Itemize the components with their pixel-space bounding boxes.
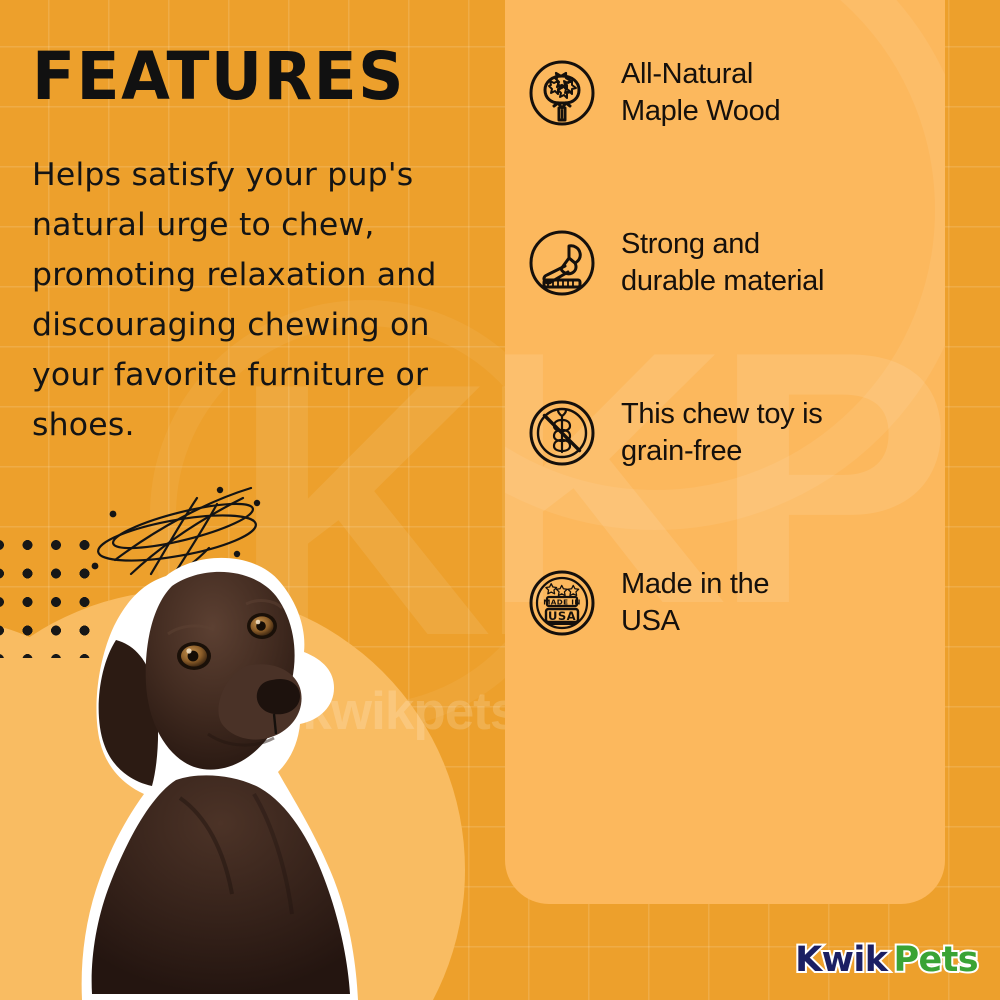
page-title: FEATURES <box>32 38 405 115</box>
features-description: Helps satisfy your pup's natural urge to… <box>32 150 462 450</box>
infographic-stage: KP www.kwikpets.com FEATURES Helps satis… <box>0 0 1000 1000</box>
logo-word-kwik: Kwik <box>795 940 887 980</box>
feature-line-2: grain-free <box>621 435 742 467</box>
feature-text: Strong and durable material <box>621 226 824 300</box>
brand-logo[interactable]: KwikPets <box>795 943 978 978</box>
feature-line-1: Made in the <box>621 568 769 600</box>
feature-item-maple-wood[interactable]: All-Natural Maple Wood <box>525 56 945 130</box>
feature-line-2: USA <box>621 605 680 637</box>
feature-list: All-Natural Maple Wood <box>505 0 945 904</box>
feature-line-2: Maple Wood <box>621 95 780 127</box>
tree-icon <box>525 56 599 130</box>
logo-word-pets: Pets <box>893 940 978 980</box>
feature-text: All-Natural Maple Wood <box>621 56 780 130</box>
svg-text:MADE IN: MADE IN <box>543 598 581 607</box>
feature-text: This chew toy is grain-free <box>621 396 823 470</box>
made-in-usa-icon: MADE IN USA <box>525 566 599 640</box>
svg-text:USA: USA <box>548 609 576 623</box>
feature-line-2: durable material <box>621 265 824 297</box>
feature-item-grain-free[interactable]: This chew toy is grain-free <box>525 396 945 470</box>
feature-line-1: This chew toy is <box>621 398 823 430</box>
feature-line-1: Strong and <box>621 228 760 260</box>
left-column: FEATURES Helps satisfy your pup's natura… <box>0 0 500 1000</box>
feature-text: Made in the USA <box>621 566 769 640</box>
feature-item-made-in-usa[interactable]: MADE IN USA Made in the USA <box>525 566 945 640</box>
feature-item-durable[interactable]: Strong and durable material <box>525 226 945 300</box>
features-card: KP <box>505 0 945 904</box>
feature-line-1: All-Natural <box>621 58 753 90</box>
hammer-icon <box>525 226 599 300</box>
grain-free-icon <box>525 396 599 470</box>
